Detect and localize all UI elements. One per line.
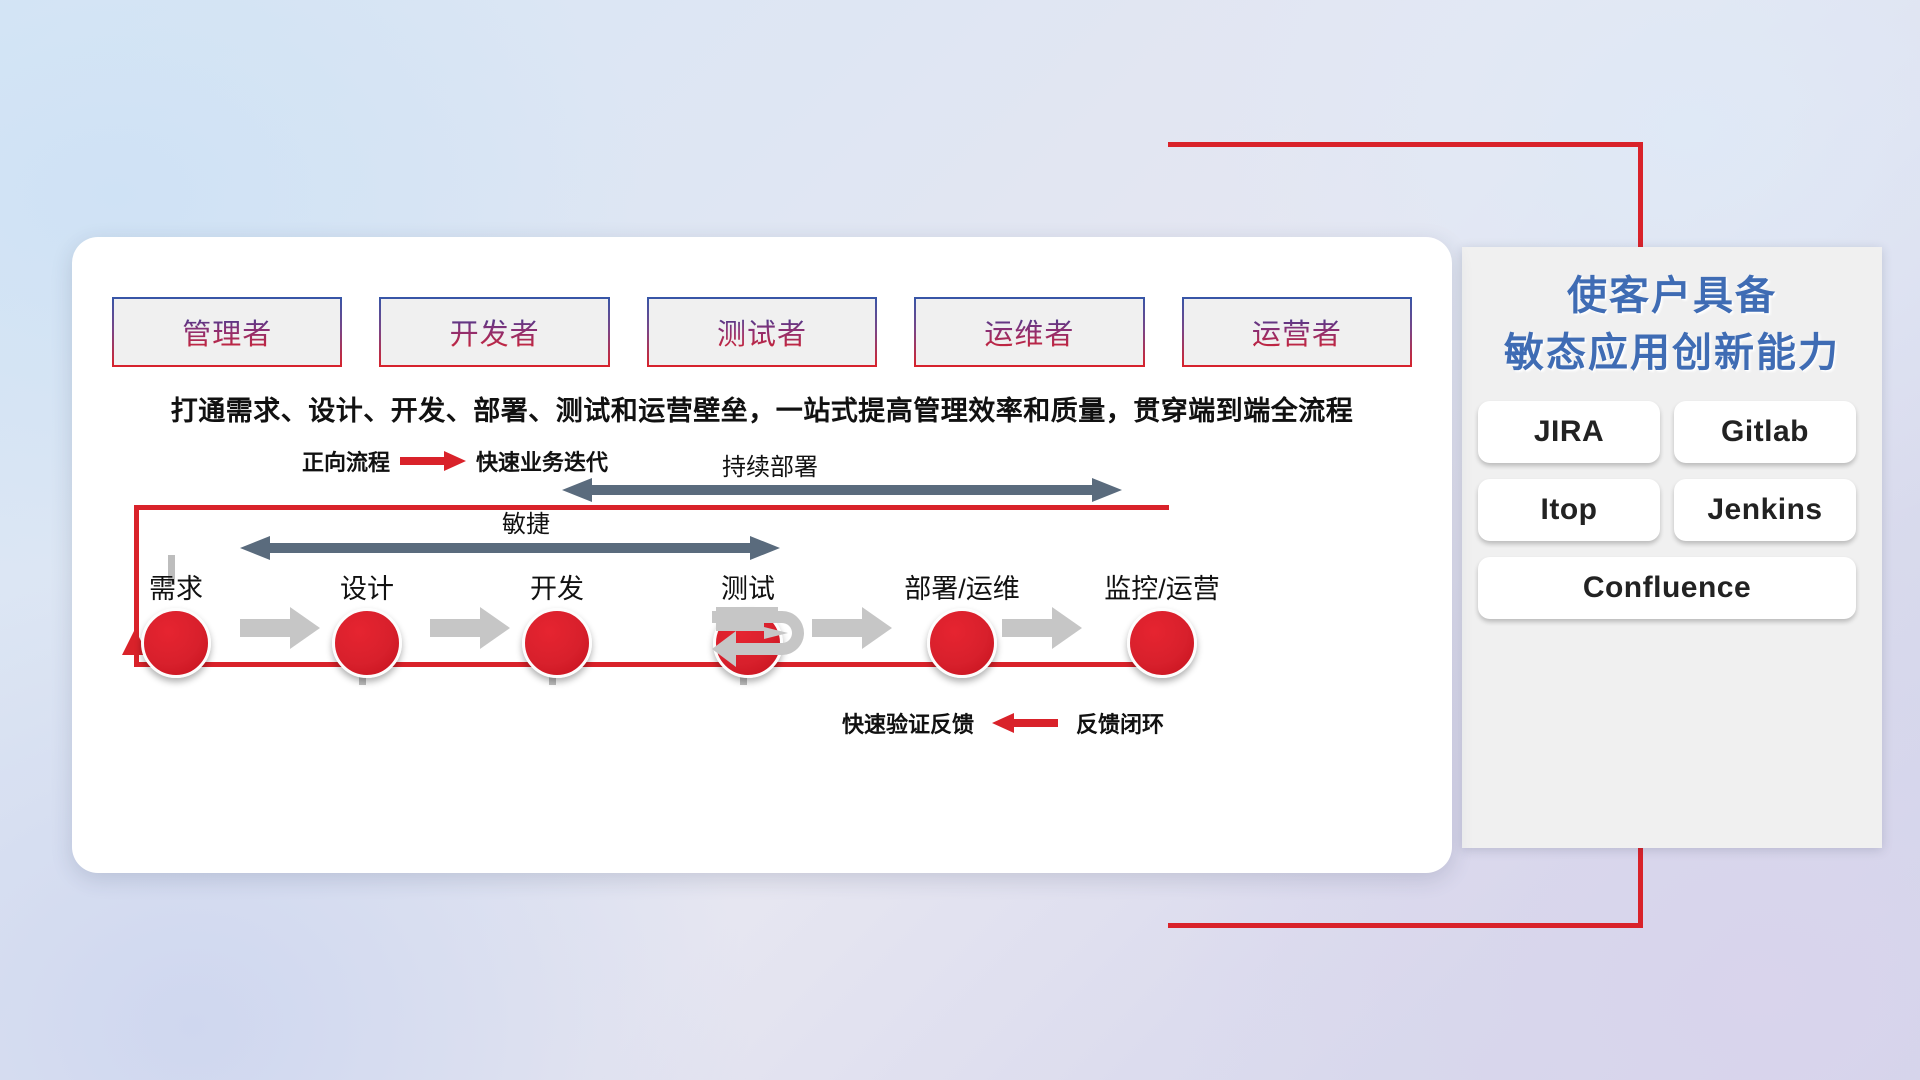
devops-diagram-card: 管理者 开发者 测试者 运维者 运营者 打通需求、设计、开发、部署、测试和运营壁… — [72, 237, 1452, 873]
pipeline-node-requirement[interactable]: 需求 — [136, 567, 216, 678]
tool-chip-label: Itop — [1541, 493, 1598, 527]
tool-chip-confluence[interactable]: Confluence — [1478, 557, 1856, 619]
slide-canvas: 使客户具备 敏态应用创新能力 JIRA Gitlab Itop Jenkins … — [0, 0, 1920, 1080]
red-arrow-right-icon — [400, 451, 466, 471]
role-label: 开发者 — [450, 311, 540, 353]
panel-heading-line2: 敏态应用创新能力 — [1462, 326, 1882, 381]
pipeline-node-dot — [1127, 608, 1197, 678]
capability-panel: 使客户具备 敏态应用创新能力 JIRA Gitlab Itop Jenkins … — [1462, 247, 1882, 848]
pipeline-node-dot — [927, 608, 997, 678]
pipeline-node-development[interactable]: 开发 — [517, 567, 597, 678]
pipeline-node-label: 需求 — [136, 567, 216, 606]
role-label: 管理者 — [182, 311, 272, 353]
role-box-manager[interactable]: 管理者 — [112, 297, 342, 367]
forward-flow-source-label: 正向流程 — [302, 445, 390, 477]
continuous-deployment-double-arrow-icon — [562, 477, 1122, 503]
role-box-operations[interactable]: 运营者 — [1182, 297, 1412, 367]
tool-chip-label: Gitlab — [1721, 415, 1809, 449]
role-label: 运营者 — [1252, 311, 1342, 353]
chevron-right-icon — [812, 607, 892, 649]
pipeline-node-label: 部署/运维 — [882, 567, 1042, 606]
pipeline-node-dot — [332, 608, 402, 678]
role-box-row: 管理者 开发者 测试者 运维者 运营者 — [112, 297, 1412, 367]
feedback-source-label: 反馈闭环 — [1076, 707, 1164, 739]
pipeline-node-label: 测试 — [708, 567, 788, 606]
tool-chip-jenkins[interactable]: Jenkins — [1674, 479, 1856, 541]
tool-chip-jira[interactable]: JIRA — [1478, 401, 1660, 463]
feedback-target-label: 快速验证反馈 — [842, 707, 974, 739]
tool-chip-label: JIRA — [1534, 415, 1604, 449]
chevron-right-icon — [1002, 607, 1082, 649]
tool-chip-gitlab[interactable]: Gitlab — [1674, 401, 1856, 463]
tagline-text: 打通需求、设计、开发、部署、测试和运营壁垒，一站式提高管理效率和质量，贯穿端到端… — [72, 389, 1452, 428]
tool-chip-grid: JIRA Gitlab Itop Jenkins Confluence — [1478, 401, 1866, 619]
pipeline-row: 需求 设计 开发 测试 部署/运维 监控/运营 — [112, 567, 1412, 687]
forward-flow-target-label: 快速业务迭代 — [476, 445, 608, 477]
pipeline-node-design[interactable]: 设计 — [327, 567, 407, 678]
pipeline-node-label: 监控/运营 — [1072, 567, 1252, 606]
chevron-right-icon — [430, 607, 510, 649]
role-box-tester[interactable]: 测试者 — [647, 297, 877, 367]
cycle-loop-icon — [712, 605, 817, 667]
pipeline-node-dot — [522, 608, 592, 678]
red-arrow-left-icon — [992, 713, 1058, 733]
role-label: 测试者 — [717, 311, 807, 353]
chevron-right-icon — [240, 607, 320, 649]
forward-flow-legend: 正向流程 快速业务迭代 — [302, 445, 608, 477]
feedback-loop-legend: 快速验证反馈 反馈闭环 — [842, 707, 1164, 739]
pipeline-node-label: 设计 — [327, 567, 407, 606]
tool-chip-label: Jenkins — [1707, 493, 1822, 527]
tool-chip-itop[interactable]: Itop — [1478, 479, 1660, 541]
panel-heading-line1: 使客户具备 — [1462, 269, 1882, 324]
role-label: 运维者 — [984, 311, 1074, 353]
pipeline-node-dot — [141, 608, 211, 678]
pipeline-node-monitor-operations[interactable]: 监控/运营 — [1072, 567, 1252, 678]
tool-chip-label: Confluence — [1583, 571, 1751, 605]
pipeline-node-label: 开发 — [517, 567, 597, 606]
role-box-developer[interactable]: 开发者 — [379, 297, 609, 367]
role-box-ops[interactable]: 运维者 — [914, 297, 1144, 367]
